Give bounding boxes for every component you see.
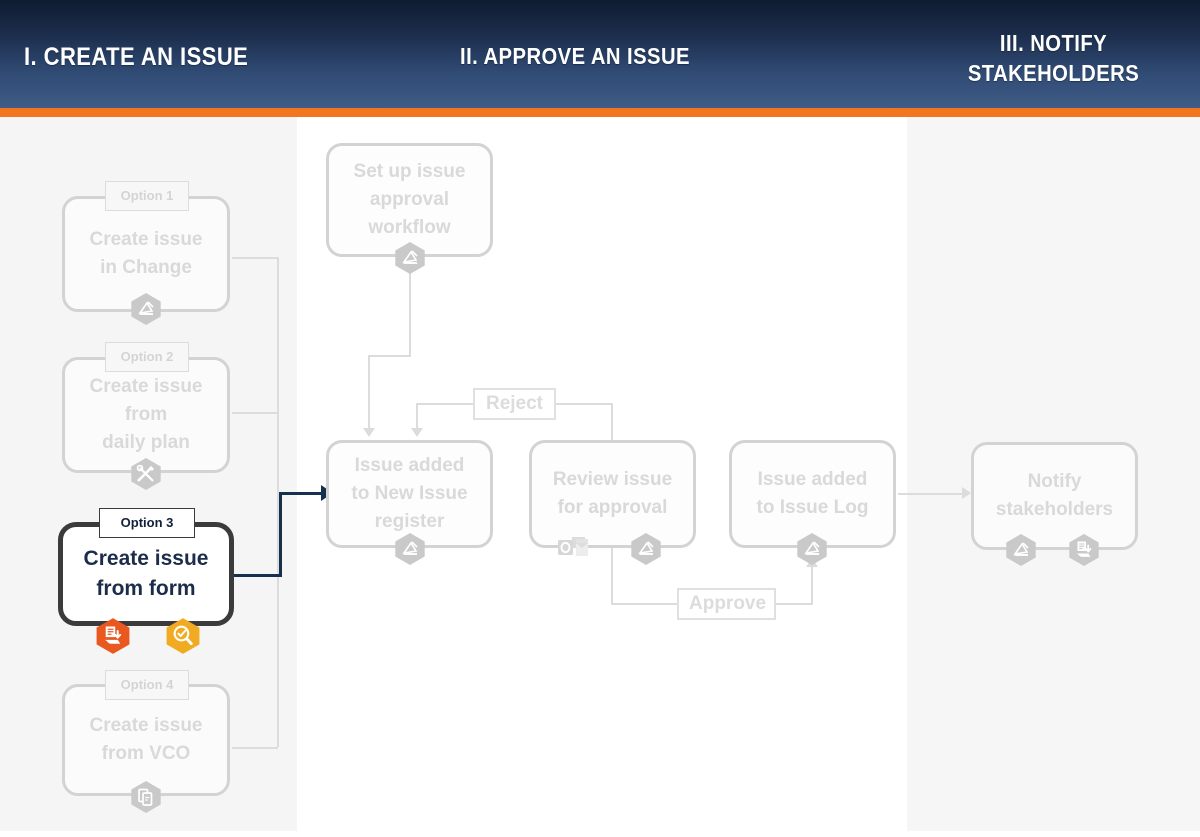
option-2-label-line-1: Create issue [89, 373, 202, 401]
form-submit-hex-icon [1067, 533, 1101, 567]
edge-label-approve: Approve [677, 588, 776, 620]
connector-option3-vertical [279, 492, 282, 577]
header-title-approve-an-issue: II. APPROVE AN ISSUE [460, 43, 690, 70]
connector-reject-down-to-register [416, 403, 418, 431]
magnifier-check-hex-icon[interactable] [164, 617, 202, 655]
connector-option3-horizontal [228, 574, 282, 577]
node-issue-log-line-2: to Issue Log [757, 494, 869, 522]
connector-option4-stub [232, 747, 278, 749]
option-4-label: Create issue from VCO [89, 712, 202, 768]
connector-approve-up-to-log [811, 566, 813, 604]
connector-reject-down-to-review [611, 403, 613, 440]
node-setup-line-2: approval [354, 186, 466, 214]
option-3-tag: Option 3 [99, 508, 195, 538]
connector-workflow-down [409, 272, 411, 356]
node-register-line-2: to New Issue [351, 480, 467, 508]
connector-option2-stub [232, 412, 278, 414]
node-notify-stakeholders-label: Notify stakeholders [996, 468, 1113, 524]
header-title-create-an-issue: I. CREATE AN ISSUE [24, 43, 248, 72]
edit-hex-icon [393, 532, 427, 566]
option-3-label: Create issue from form [84, 544, 209, 604]
node-new-issue-register-label: Issue added to New Issue register [351, 452, 467, 536]
tools-hex-icon [129, 457, 163, 491]
connector-workflow-arrowhead [363, 428, 375, 437]
option-2-label-line-2: from [89, 401, 202, 429]
edit-hex-icon [393, 241, 427, 275]
connector-approve-left-segment [611, 603, 681, 605]
node-notify-line-1: Notify [996, 468, 1113, 496]
node-setup-line-3: workflow [354, 214, 466, 242]
header-title-notify-line-2: STAKEHOLDERS [925, 58, 1183, 88]
node-review-line-2: for approval [553, 494, 672, 522]
node-notify-line-2: stakeholders [996, 496, 1113, 524]
option-2-tag: Option 2 [105, 342, 189, 372]
header-accent-rule [0, 108, 1200, 117]
connector-log-to-notify [898, 493, 964, 495]
node-setup-approval-workflow-label: Set up issue approval workflow [354, 158, 466, 242]
form-submit-hex-icon[interactable] [94, 617, 132, 655]
option-2-label: Create issue from daily plan [89, 373, 202, 457]
option-2-card[interactable]: Create issue from daily plan [62, 357, 230, 473]
edit-hex-icon [629, 532, 663, 566]
option-4-label-line-1: Create issue [89, 712, 202, 740]
node-issue-log-line-1: Issue added [757, 466, 869, 494]
connector-reject-right-segment [555, 403, 613, 405]
connector-workflow-left [368, 355, 411, 357]
option-4-label-line-2: from VCO [89, 740, 202, 768]
option-1-label-line-1: Create issue [89, 226, 202, 254]
node-review-issue-for-approval[interactable]: Review issue for approval [529, 440, 696, 548]
connector-option3-to-register [279, 492, 323, 495]
node-issue-log-label: Issue added to Issue Log [757, 466, 869, 522]
option-1-label-line-2: in Change [89, 254, 202, 282]
outlook-icon [556, 533, 596, 565]
node-setup-line-1: Set up issue [354, 158, 466, 186]
option-2-label-line-3: daily plan [89, 429, 202, 457]
node-review-issue-label: Review issue for approval [553, 466, 672, 522]
connector-reject-left-segment [416, 403, 474, 405]
node-notify-stakeholders[interactable]: Notify stakeholders [971, 442, 1138, 550]
option-3-label-line-1: Create issue [84, 544, 209, 574]
connector-approve-down [611, 548, 613, 604]
connector-approve-right-segment [775, 603, 813, 605]
connector-workflow-to-register [368, 355, 370, 431]
edit-hex-icon [129, 292, 163, 326]
connector-log-to-notify-arrowhead [962, 487, 971, 499]
edit-hex-icon [795, 532, 829, 566]
connector-reject-arrowhead [411, 428, 423, 437]
node-register-line-1: Issue added [351, 452, 467, 480]
edit-hex-icon [1004, 533, 1038, 567]
node-review-line-1: Review issue [553, 466, 672, 494]
header-title-notify-stakeholders: III. NOTIFY STAKEHOLDERS [925, 28, 1183, 88]
connector-option1-stub [232, 257, 278, 259]
node-setup-approval-workflow[interactable]: Set up issue approval workflow [326, 143, 493, 257]
flowchart-canvas: I. CREATE AN ISSUE II. APPROVE AN ISSUE … [0, 0, 1200, 837]
edge-label-reject: Reject [473, 388, 556, 420]
header-title-notify-line-1: III. NOTIFY [925, 28, 1183, 58]
documents-hex-icon [129, 780, 163, 814]
option-4-tag: Option 4 [105, 670, 189, 700]
option-1-tag: Option 1 [105, 181, 189, 211]
option-3-label-line-2: from form [84, 574, 209, 604]
option-1-label: Create issue in Change [89, 226, 202, 282]
